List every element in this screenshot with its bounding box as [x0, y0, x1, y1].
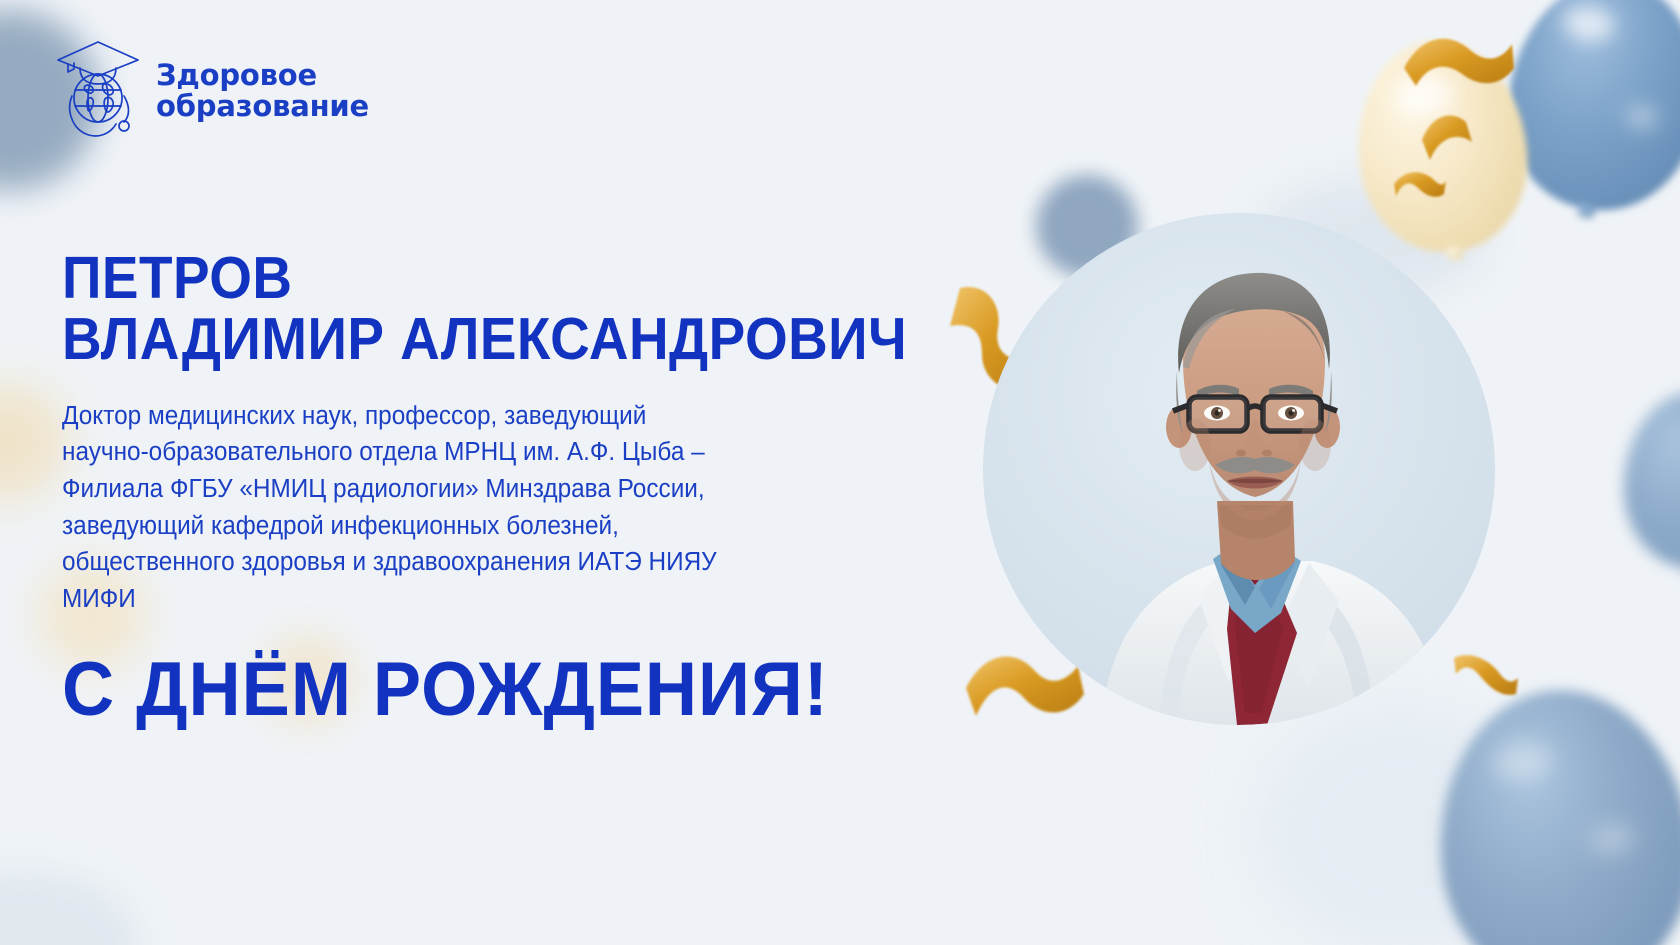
- person-name: ПЕТРОВ ВЛАДИМИР АЛЕКСАНДРОВИЧ: [62, 248, 899, 370]
- person-given-name: ВЛАДИМИР АЛЕКСАНДРОВИЧ: [62, 309, 899, 370]
- brand-name-line1: Здоровое: [156, 58, 317, 92]
- bio-line: заведующий кафедрой инфекционных болезне…: [62, 508, 922, 545]
- gold-ribbon: [1398, 24, 1518, 112]
- brand-name-line2: образование: [156, 91, 369, 122]
- portrait-illustration: [983, 213, 1495, 725]
- gold-ribbon: [1392, 166, 1448, 200]
- cream-dot: [0, 382, 68, 502]
- blue-balloon-bottom: [1427, 680, 1680, 945]
- cream-balloon: [1346, 31, 1539, 262]
- bio-line: Доктор медицинских наук, профессор, заве…: [62, 398, 922, 435]
- birthday-greeting-card: Здоровое образование ПЕТРОВ ВЛАДИМИР АЛЕ…: [0, 0, 1680, 945]
- gold-ribbon: [1418, 108, 1480, 166]
- person-surname: ПЕТРОВ: [62, 248, 899, 309]
- bio-line: научно-образовательного отдела МРНЦ им. …: [62, 434, 922, 471]
- soft-grey-blob: [0, 870, 140, 945]
- portrait-photo: [983, 213, 1495, 725]
- gold-ribbon: [1452, 648, 1522, 698]
- person-bio: Доктор медицинских наук, профессор, заве…: [62, 398, 922, 618]
- soft-grey-blob: [1250, 700, 1550, 945]
- birthday-greeting: С ДНЁМ РОЖДЕНИЯ!: [62, 652, 917, 728]
- bio-line: общественного здоровья и здравоохранения…: [62, 544, 922, 581]
- brand-name: Здоровое образование: [156, 60, 369, 123]
- brand-logo: Здоровое образование: [52, 36, 369, 146]
- blue-balloon-right: [1624, 392, 1680, 568]
- text-content: ПЕТРОВ ВЛАДИМИР АЛЕКСАНДРОВИЧ Доктор мед…: [62, 248, 962, 728]
- bio-line: МИФИ: [62, 581, 922, 618]
- blue-balloon-top: [1493, 0, 1680, 223]
- bio-line: Филиала ФГБУ «НМИЦ радиологии» Минздрава…: [62, 471, 922, 508]
- globe-graduation-cap-stethoscope-icon: [52, 36, 144, 146]
